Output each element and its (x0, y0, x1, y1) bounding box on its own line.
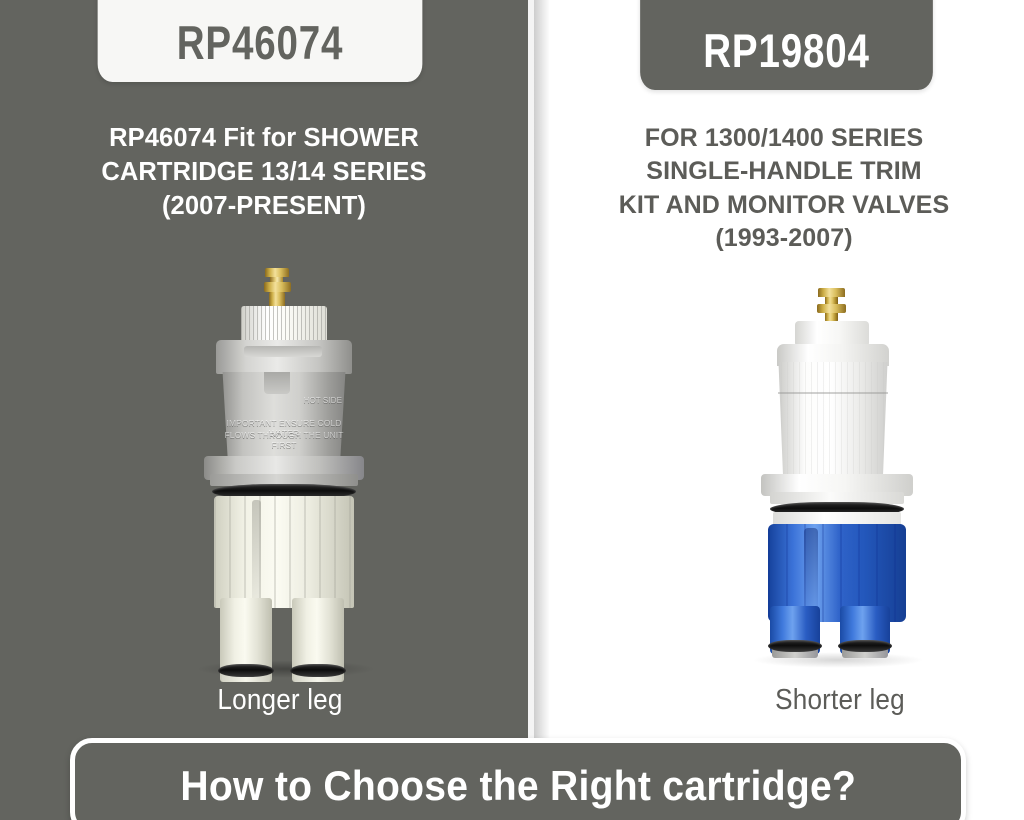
leg-o-ring-left (218, 664, 274, 677)
left-leg-caption: Longer leg (145, 686, 415, 715)
left-description-line-1: RP46074 Fit for SHOWER (28, 122, 500, 156)
right-description-line-3: KIT AND MONITOR VALVES (556, 189, 1012, 222)
brass-stem-collar (264, 282, 291, 292)
panel-divider-shadow (534, 0, 550, 820)
left-description-line-2: CARTRIDGE 13/14 SERIES (28, 156, 500, 190)
body-alignment-tab (264, 372, 290, 394)
leg-o-ring-right (290, 664, 346, 677)
right-leg-caption: Shorter leg (705, 686, 975, 715)
cage-center-slot (252, 500, 261, 602)
right-product-image (742, 288, 932, 668)
brass-stem-collar (817, 304, 846, 313)
right-description: FOR 1300/1400 SERIES SINGLE-HANDLE TRIM … (556, 122, 1012, 255)
left-product-image: HOT SIDE IMPORTANT ENSURE COLD WATER FLO… (186, 268, 382, 666)
brass-stem-cap (265, 268, 289, 277)
brass-stem-cap (818, 288, 845, 297)
lower-ribbed-cage (214, 496, 354, 608)
bottom-banner-text: How to Choose the Right cartridge? (180, 762, 856, 810)
white-body (775, 362, 891, 478)
bottom-banner: How to Choose the Right cartridge? (70, 738, 966, 820)
right-description-line-4: (1993-2007) (556, 222, 1012, 255)
left-description: RP46074 Fit for SHOWER CARTRIDGE 13/14 S… (28, 122, 500, 224)
right-description-line-2: SINGLE-HANDLE TRIM (556, 155, 1012, 188)
right-model-badge: RP19804 (640, 0, 933, 90)
leg-o-ring-right (838, 640, 892, 652)
comparison-infographic: RP46074 RP19804 RP46074 Fit for SHOWER C… (0, 0, 1024, 820)
left-description-line-3: (2007-PRESENT) (28, 190, 500, 224)
collar-notch (244, 346, 322, 357)
leg-o-ring-left (768, 640, 822, 652)
right-description-line-1: FOR 1300/1400 SERIES (556, 122, 1012, 155)
body-seam-line (778, 392, 888, 394)
left-model-badge: RP46074 (98, 0, 423, 82)
